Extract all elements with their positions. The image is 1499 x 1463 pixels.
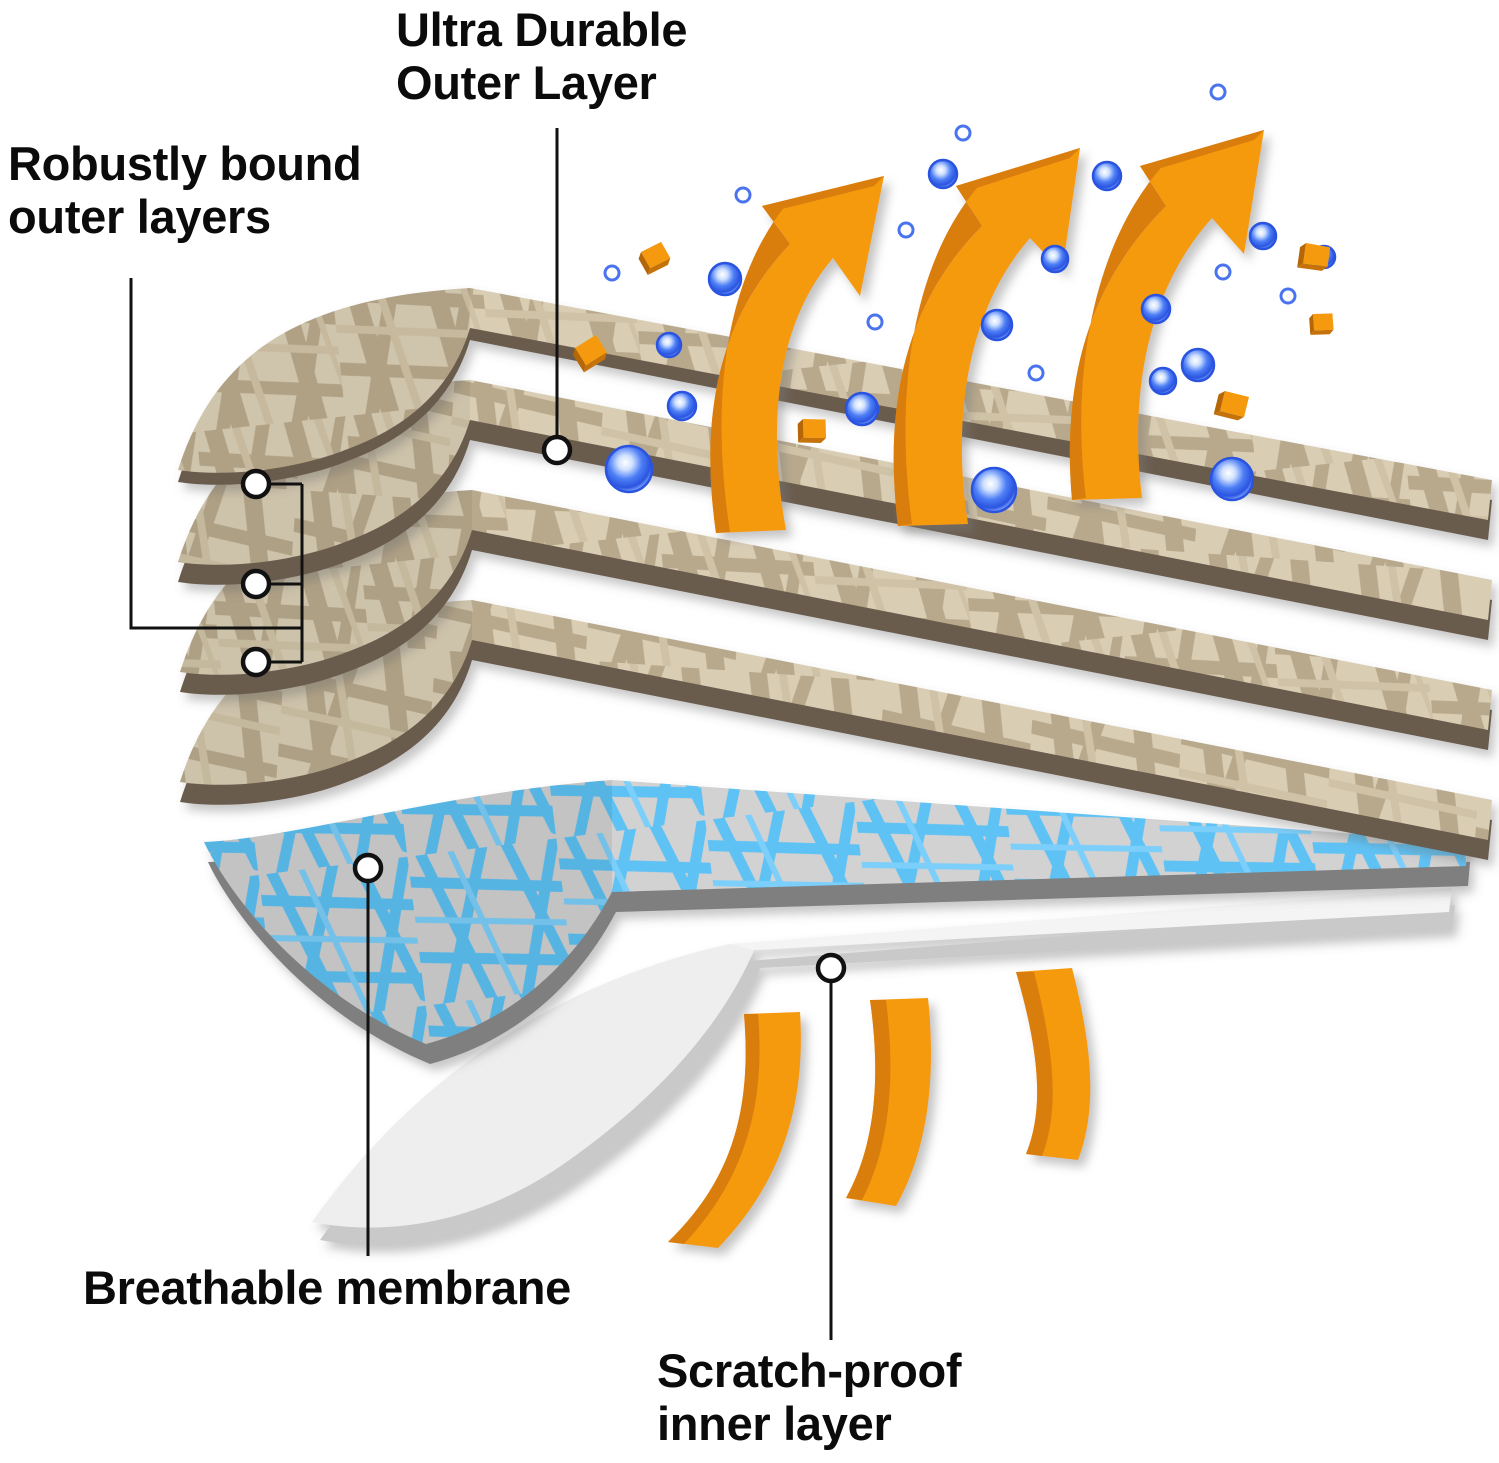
marker-robust-bound-3	[243, 649, 269, 675]
marker-outer-layer	[544, 437, 570, 463]
airflow-arrow-3	[1016, 968, 1090, 1160]
callout-label-scratch-proof-inner-layer: Scratch-proof inner layer	[657, 1345, 1077, 1450]
callout-label-outer-layer: Ultra Durable Outer Layer	[396, 4, 816, 109]
marker-scratch-proof	[818, 955, 844, 981]
marker-robust-bound-2	[243, 571, 269, 597]
callout-label-breathable-membrane: Breathable membrane	[83, 1262, 723, 1315]
marker-robust-bound-1	[243, 471, 269, 497]
layered-fabric-diagram: Ultra Durable Outer Layer Robustly bound…	[0, 0, 1499, 1463]
callout-label-robustly-bound: Robustly bound outer layers	[8, 138, 448, 243]
airflow-arrow-2	[846, 998, 931, 1206]
marker-membrane	[355, 855, 381, 881]
